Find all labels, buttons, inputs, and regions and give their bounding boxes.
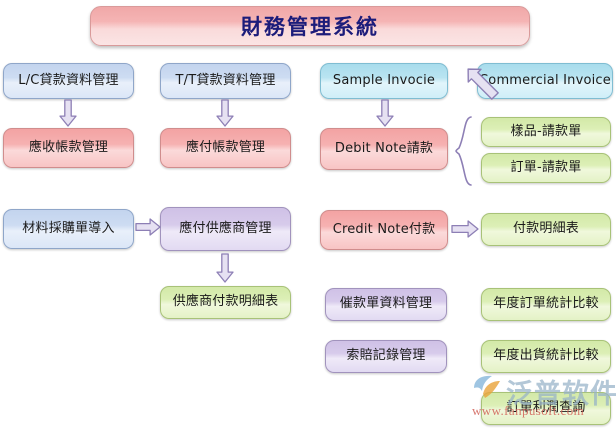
node-debit-note[interactable]: Debit Note請款 bbox=[320, 128, 448, 170]
connector-credit-to-paydetail bbox=[452, 221, 478, 237]
node-tt[interactable]: T/T貸款資料管理 bbox=[160, 63, 291, 99]
connector-supplier-to-detail bbox=[217, 254, 233, 282]
node-material-po[interactable]: 材料採購單導入 bbox=[3, 209, 134, 249]
connector-material-to-supplier bbox=[136, 219, 160, 235]
page-title: 財務管理系統 bbox=[90, 6, 530, 46]
node-commercial-inv[interactable]: Commercial Invoice bbox=[477, 63, 613, 99]
node-lc[interactable]: L/C貸款資料管理 bbox=[3, 63, 134, 99]
connector-tt-to-ap bbox=[217, 100, 233, 126]
node-pay-detail[interactable]: 付款明細表 bbox=[481, 213, 611, 246]
node-order-req[interactable]: 訂單-請款單 bbox=[481, 153, 611, 183]
node-ap-supplier[interactable]: 應付供應商管理 bbox=[160, 207, 291, 251]
node-ar[interactable]: 應收帳款管理 bbox=[3, 128, 134, 168]
node-dunning[interactable]: 催款單資料管理 bbox=[325, 288, 447, 321]
node-annual-ship[interactable]: 年度出貨統計比較 bbox=[481, 340, 611, 373]
flowchart-canvas: 財務管理系統 L/C貸款資料管理T/T貸款資料管理Sample InvocieC… bbox=[0, 0, 616, 432]
node-annual-order[interactable]: 年度訂單統計比較 bbox=[481, 288, 611, 321]
node-sample-inv[interactable]: Sample Invocie bbox=[320, 63, 448, 99]
connector-lc-to-ar bbox=[60, 100, 76, 126]
node-supplier-pay[interactable]: 供應商付款明細表 bbox=[160, 286, 291, 319]
node-credit-note[interactable]: Credit Note付款 bbox=[320, 210, 448, 250]
node-sample-req[interactable]: 樣品-請款單 bbox=[481, 117, 611, 147]
node-ap[interactable]: 應付帳款管理 bbox=[160, 128, 291, 168]
node-order-profit[interactable]: 訂單利潤查詢 bbox=[481, 392, 611, 425]
connector-debit-brace bbox=[452, 116, 474, 190]
connector-sample-to-debit bbox=[377, 100, 393, 126]
node-claim[interactable]: 索賠記錄管理 bbox=[325, 340, 447, 373]
